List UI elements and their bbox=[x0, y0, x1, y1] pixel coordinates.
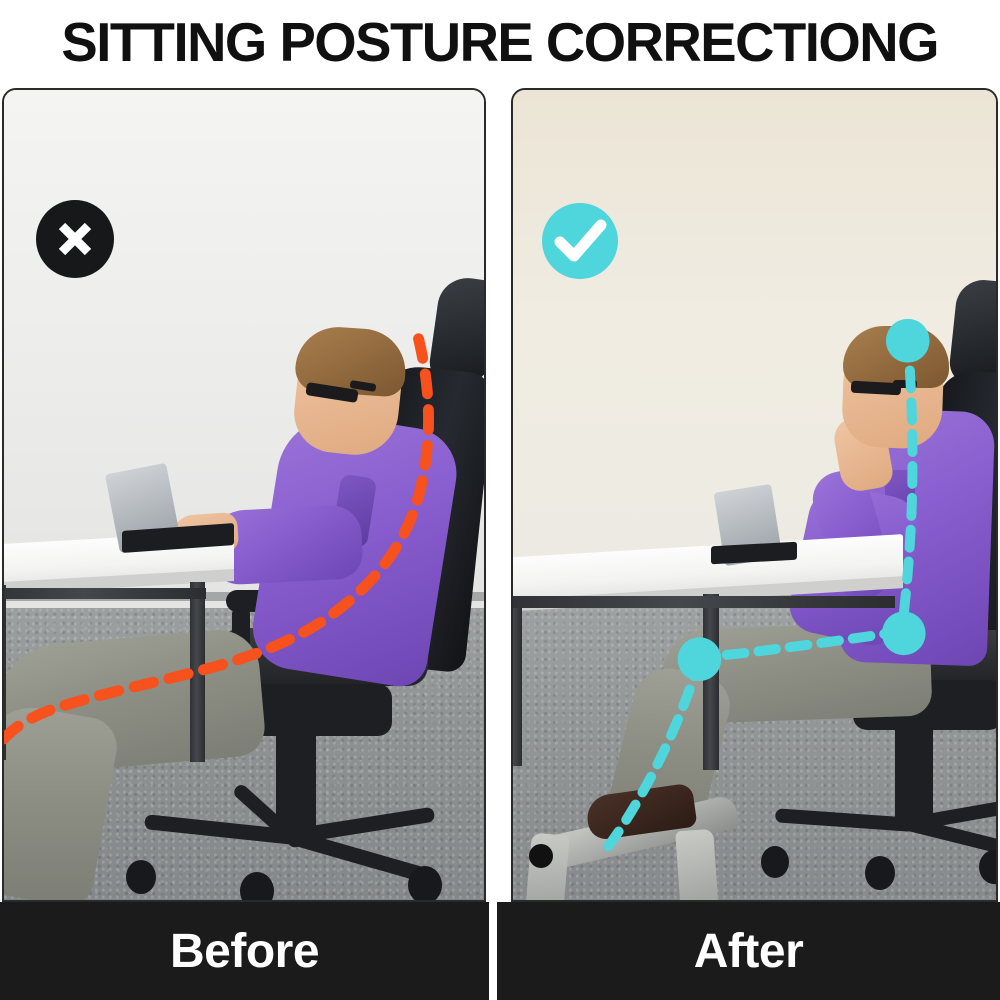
desk-leg bbox=[513, 598, 522, 766]
desk-leg bbox=[4, 585, 6, 760]
panel-before bbox=[2, 88, 486, 902]
label-divider bbox=[489, 902, 497, 1000]
person-hair bbox=[843, 326, 949, 388]
chair-caster bbox=[761, 846, 789, 878]
scene-after bbox=[513, 90, 996, 900]
page-title: SITTING POSTURE CORRECTIONG bbox=[62, 15, 939, 70]
desk-leg bbox=[703, 594, 719, 770]
panel-after bbox=[511, 88, 998, 902]
check-badge bbox=[541, 202, 619, 280]
label-after: After bbox=[694, 924, 804, 979]
cross-badge bbox=[36, 200, 114, 278]
poster-root: SITTING POSTURE CORRECTIONG bbox=[0, 0, 1000, 1000]
scene-before bbox=[4, 90, 484, 900]
chair-caster bbox=[865, 856, 895, 890]
chair-gas-cylinder bbox=[895, 724, 933, 826]
glasses-temple bbox=[893, 380, 917, 388]
label-bar-after: After bbox=[497, 902, 1000, 1000]
desk-apron bbox=[513, 596, 895, 608]
desk-apron bbox=[4, 588, 206, 599]
close-icon bbox=[51, 215, 99, 263]
label-before: Before bbox=[170, 924, 319, 979]
label-bar-before: Before bbox=[0, 902, 489, 1000]
check-circle-icon bbox=[541, 202, 619, 280]
footrest-tilt-knob[interactable] bbox=[529, 844, 553, 868]
poster-title-bar: SITTING POSTURE CORRECTIONG bbox=[0, 0, 1000, 84]
chair-caster bbox=[126, 860, 156, 894]
desk-leg bbox=[190, 582, 205, 762]
chair-caster bbox=[408, 866, 442, 900]
